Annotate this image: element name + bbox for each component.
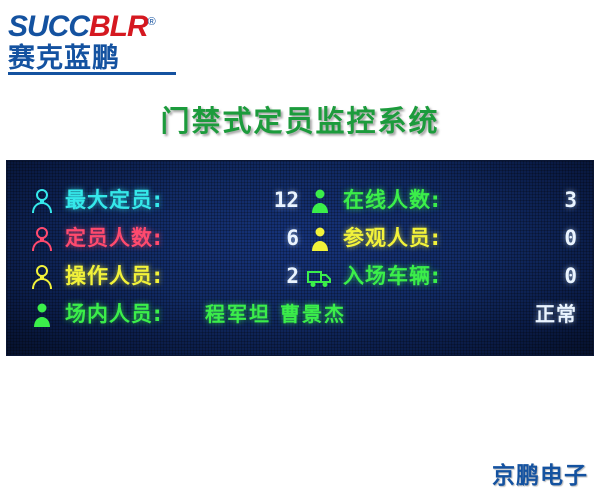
led-row: 定员人数: 6 参观人员: 0 — [29, 223, 577, 256]
value-vehicle-count: 0 — [564, 262, 577, 290]
status-badge: 正常 — [535, 300, 577, 328]
led-row: 操作人员: 2 入场车辆: 0 — [29, 261, 577, 294]
field-quota-count: 定员人数: 6 — [29, 223, 299, 256]
led-row: 最大定员: 12 在线人数: 3 — [29, 185, 577, 218]
person-body-icon — [29, 302, 55, 329]
person-body-icon — [307, 188, 333, 215]
company-logo: SUCCBLR® 赛克蓝鹏 — [8, 6, 228, 76]
person-head-icon — [29, 264, 55, 291]
value-max-capacity: 12 — [274, 186, 299, 214]
footer-brand: 京鹏电子 — [492, 456, 588, 490]
label-online-count: 在线人数: — [343, 186, 440, 214]
led-display-panel: 最大定员: 12 在线人数: 3 — [6, 160, 594, 356]
logo-latin-blr: BLR — [89, 10, 148, 43]
logo-latin-succ: SUCC — [8, 10, 89, 43]
person-head-icon — [29, 188, 55, 215]
field-vehicle-count: 入场车辆: 0 — [307, 261, 577, 294]
value-onsite-names: 程军坦 曹景杰 — [205, 300, 346, 328]
label-max-capacity: 最大定员: — [65, 186, 162, 214]
person-body-icon — [307, 226, 333, 253]
value-quota-count: 6 — [286, 224, 299, 252]
page-title: 门禁式定员监控系统 — [0, 98, 600, 140]
logo-underline-divider — [8, 72, 176, 75]
person-head-icon — [29, 226, 55, 253]
value-operator-count: 2 — [286, 262, 299, 290]
label-onsite-personnel: 场内人员: — [65, 300, 162, 328]
logo-chinese-text: 赛克蓝鹏 — [8, 44, 228, 74]
field-visitor-count: 参观人员: 0 — [307, 223, 577, 256]
field-operator-count: 操作人员: 2 — [29, 261, 299, 294]
truck-icon — [307, 264, 333, 291]
label-visitor-count: 参观人员: — [343, 224, 440, 252]
logo-latin-text: SUCCBLR® — [8, 6, 228, 43]
value-online-count: 3 — [564, 186, 577, 214]
field-online-count: 在线人数: 3 — [307, 185, 577, 218]
trademark-icon: ® — [148, 16, 155, 28]
led-row: 场内人员: 程军坦 曹景杰 正常 — [29, 299, 577, 332]
label-vehicle-count: 入场车辆: — [343, 262, 440, 290]
label-operator-count: 操作人员: — [65, 262, 162, 290]
value-visitor-count: 0 — [564, 224, 577, 252]
field-max-capacity: 最大定员: 12 — [29, 185, 299, 218]
field-onsite-personnel: 场内人员: 程军坦 曹景杰 正常 — [29, 299, 577, 332]
label-quota-count: 定员人数: — [65, 224, 162, 252]
